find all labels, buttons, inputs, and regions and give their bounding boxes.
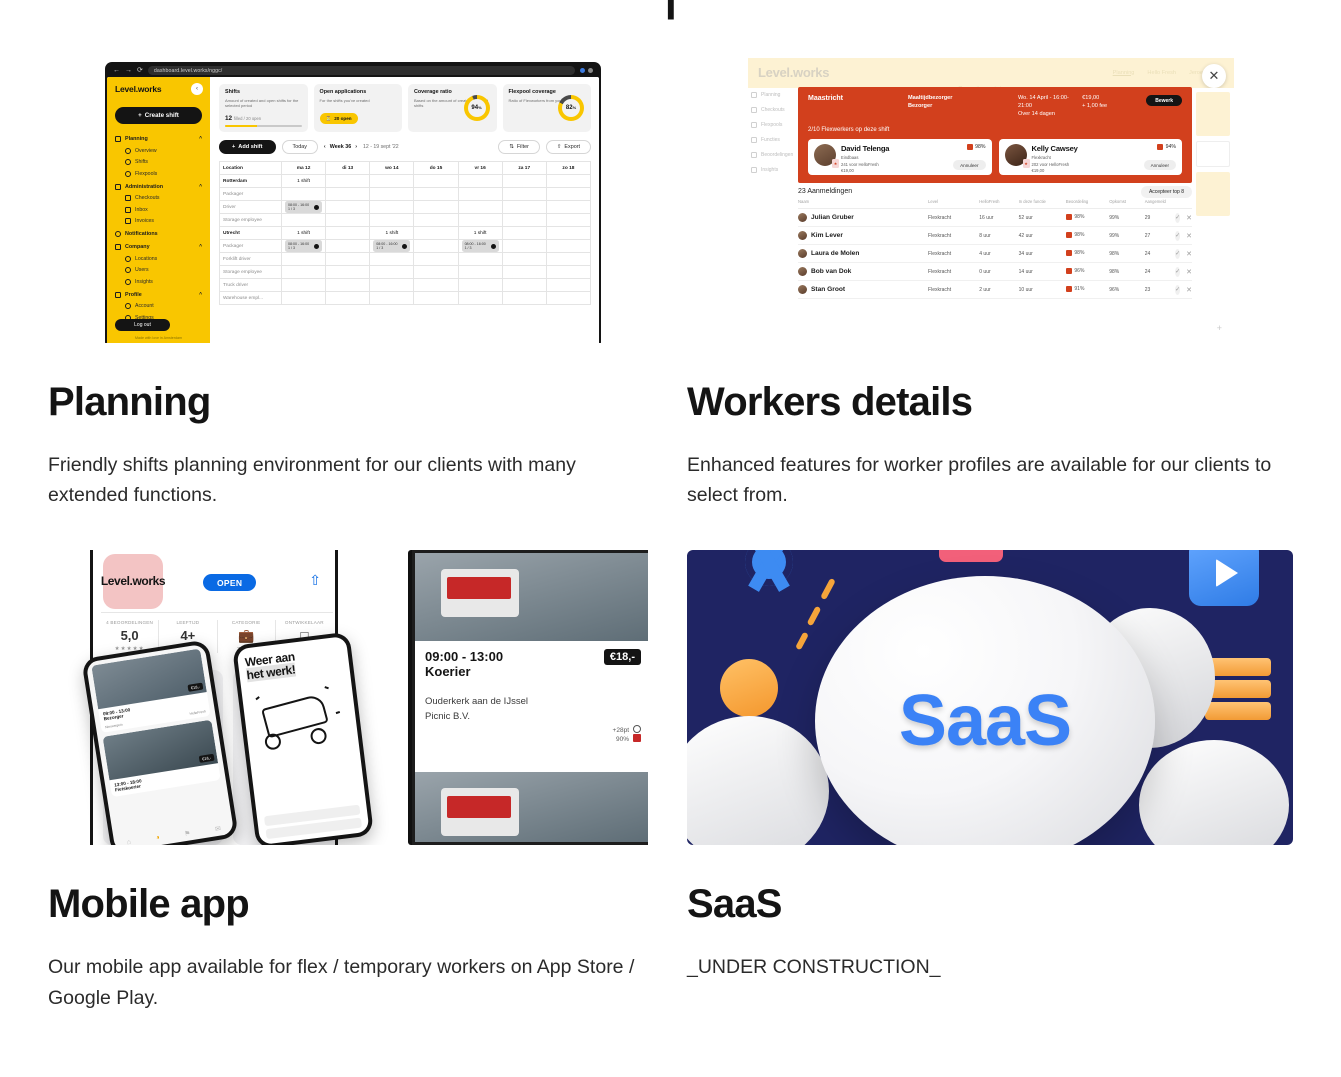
card-description-mobile-app: Our mobile app available for flex / temp… <box>48 952 648 1012</box>
shift-detail-panel: Maastricht Maaltijdbezorger Bezorger Wo.… <box>798 87 1192 183</box>
empty-cell <box>502 292 546 305</box>
applicant-hellofresh-hours: 2 uur <box>979 281 1018 299</box>
profile-dot-icon <box>580 68 585 73</box>
side-item-label: Functies <box>761 137 780 143</box>
applicant-rating: 98% <box>1066 209 1109 227</box>
empty-cell <box>458 201 502 214</box>
table-row: Warehouse empl... <box>220 292 591 305</box>
sidebar-item-overview[interactable]: Overview <box>115 148 202 154</box>
empty-cell <box>502 253 546 266</box>
app-icon: Level.works <box>103 554 163 609</box>
col-actions <box>1176 199 1192 209</box>
accept-icon[interactable]: ✓ <box>1175 231 1180 241</box>
nav-item-planning[interactable]: Planning <box>1113 70 1135 76</box>
sidebar-group-notifications[interactable]: Notifications <box>115 231 202 237</box>
applicant-level: Flexkracht <box>928 281 979 299</box>
sidebar-group-planning[interactable]: Planning ^ <box>115 136 202 142</box>
inbox-icon[interactable]: ✉ <box>214 825 221 834</box>
shift-chip[interactable]: 08:00 - 16:001 / 3 <box>285 240 322 252</box>
sidebar-group-label: Company <box>125 244 150 250</box>
empty-cell <box>282 253 326 266</box>
shift-datetime: Wo. 14 April - 16:00-21:00 Over 14 dagen <box>1018 95 1082 118</box>
empty-cell <box>326 188 370 201</box>
empty-cell <box>458 279 502 292</box>
forward-icon[interactable]: → <box>125 67 132 74</box>
row-actions[interactable]: ✓✕ <box>1176 245 1192 263</box>
donut-value: 82 <box>566 105 573 111</box>
side-item-label: Checkouts <box>761 107 785 113</box>
empty-cell <box>326 240 370 253</box>
flag-icon[interactable]: ⚑ <box>184 830 191 839</box>
applicant-applied-count: 27 <box>1145 227 1177 245</box>
applicant-name: Stan Groot <box>811 286 845 293</box>
export-button[interactable]: ⇧ Export <box>546 140 591 154</box>
shift-role-sub: Bezorger <box>908 103 1018 111</box>
open-button[interactable]: OPEN <box>203 574 256 591</box>
logout-button[interactable]: Log out <box>115 319 170 331</box>
sidebar-item-label: Insights <box>135 279 153 285</box>
empty-cell <box>326 266 370 279</box>
table-row[interactable]: Laura de MolenFlexkracht4 uur34 uur98%98… <box>798 245 1192 263</box>
empty-cell <box>414 266 458 279</box>
applicant-level: Flexkracht <box>928 245 979 263</box>
filter-label: Filter <box>517 144 529 150</box>
worker-rate: €19,00 <box>841 168 889 174</box>
checkouts-icon <box>125 195 131 201</box>
col-beoordeling: Beoordeling <box>1066 199 1109 209</box>
open-applications-badge[interactable]: ⏳ 20 open <box>320 113 358 124</box>
thumbs-up-icon <box>633 734 641 742</box>
sidebar-group-label: Planning <box>125 136 148 142</box>
overview-icon <box>125 148 131 154</box>
empty-cell <box>546 227 590 240</box>
sidebar-item-label: Account <box>135 303 154 309</box>
saas-word: SaaS <box>815 576 1155 845</box>
sidebar-item-inbox[interactable]: Inbox <box>115 207 202 213</box>
col-di-13: di 13 <box>326 162 370 175</box>
workers-logo: Level.works <box>758 65 829 80</box>
wheel-icon <box>310 727 328 745</box>
export-label: Export <box>564 144 580 150</box>
shift-company: HelloFresh <box>189 710 206 717</box>
shift-points: +28pt <box>613 727 629 734</box>
shift-info: 09:00 - 13:00 Koerier €18,- Ouderkerk aa… <box>415 641 648 734</box>
saas-screenshot: SaaS <box>687 550 1293 845</box>
empty-cell <box>370 279 414 292</box>
phone-onboarding: Weer aan het werk! <box>232 632 374 845</box>
menu-dot-icon <box>588 68 593 73</box>
side-item-label: Insights <box>761 167 778 173</box>
sidebar-item-label: Flexpools <box>135 171 157 177</box>
col-vr-16: vr 16 <box>458 162 502 175</box>
card-description-planning: Friendly shifts planning environment for… <box>48 450 648 510</box>
sidebar-item-invoices[interactable]: Invoices <box>115 218 202 224</box>
onboarding-headline: Weer aan het werk! <box>244 645 342 682</box>
bell-icon <box>115 231 121 237</box>
shift-card[interactable]: €16,- 13:00 - 18:00 Fietskoerier <box>103 720 221 797</box>
empty-cell <box>502 266 546 279</box>
shift-countdown: Over 14 dagen <box>1018 111 1082 119</box>
shift-count-cell[interactable]: 1 shift <box>370 227 414 240</box>
back-icon[interactable]: ← <box>113 67 120 74</box>
empty-cell <box>458 214 502 227</box>
accept-icon[interactable]: ✓ <box>1175 267 1180 277</box>
export-icon: ⇧ <box>557 144 562 150</box>
worker-name: David Telenga <box>841 144 889 153</box>
sidebar-item-insights[interactable]: Insights <box>115 279 202 285</box>
plus-icon: + <box>232 144 235 150</box>
shift-points-block: +28pt 90% <box>613 725 641 743</box>
insights-icon <box>125 279 131 285</box>
week-label: Week 36 <box>330 144 351 150</box>
chevron-up-icon: ^ <box>199 184 202 190</box>
shift-price: €18,- <box>187 683 203 692</box>
row-actions[interactable]: ✓✕ <box>1176 227 1192 245</box>
card-title-workers-details: Workers details <box>687 381 1293 423</box>
spec-key: 4 BEOORDELINGEN <box>103 620 156 625</box>
avatar <box>798 213 807 222</box>
stat-title: Coverage ratio <box>414 89 491 95</box>
locations-icon <box>125 256 131 262</box>
prev-week-icon[interactable]: ‹ <box>324 144 326 150</box>
applicant-name-cell: Stan Groot <box>798 281 928 299</box>
empty-cell <box>546 201 590 214</box>
applicant-function-hours: 10 uur <box>1019 281 1066 299</box>
shift-count-cell[interactable]: 1 shift <box>282 227 326 240</box>
app-icon-label: Level.works <box>101 576 165 587</box>
add-icon[interactable]: + <box>1217 323 1222 333</box>
flag-icon <box>751 122 757 128</box>
avatar: ★ <box>1005 144 1027 166</box>
insights-icon <box>751 167 757 173</box>
empty-cell <box>502 240 546 253</box>
avatar <box>798 285 807 294</box>
side-item-functies[interactable]: Functies <box>751 137 801 143</box>
empty-cell <box>414 240 458 253</box>
table-row[interactable]: Kim LeverFlexkracht8 uur42 uur98%99%27✓✕ <box>798 227 1192 245</box>
donut-unit: % <box>573 105 577 110</box>
shift-location: Maastricht <box>808 95 908 118</box>
reject-icon[interactable]: ✕ <box>1186 268 1192 276</box>
empty-cell <box>370 214 414 227</box>
shift-chip[interactable]: 08:00 - 16:001 / 3 <box>373 240 410 252</box>
shift-rate: €19,00 + 1,00 fee <box>1082 95 1146 118</box>
stat-title: Shifts <box>225 89 302 95</box>
shift-count-cell[interactable]: 1 shift <box>458 227 502 240</box>
next-week-icon[interactable]: › <box>355 144 357 150</box>
role-cell: Forklift driver <box>220 253 282 266</box>
reject-icon[interactable]: ✕ <box>1186 214 1192 222</box>
sidebar-item-shifts[interactable]: Shifts <box>115 159 202 165</box>
worker-card[interactable]: ★ Kelly Cawsey Flexkracht 202 voor Hello… <box>999 139 1183 175</box>
share-icon[interactable]: ⇧ <box>309 572 321 589</box>
accept-top-button[interactable]: Accepteer top 8 <box>1141 186 1192 198</box>
applicant-level: Flexkracht <box>928 227 979 245</box>
applicant-rating: 91% <box>1066 281 1109 299</box>
applicant-function-hours: 14 uur <box>1019 263 1066 281</box>
badge-icon: ★ <box>1023 159 1030 168</box>
role-cell: Driver <box>220 201 282 214</box>
shift-chip[interactable]: 08:00 - 16:001 / 3 <box>462 240 499 252</box>
sidebar-group-company[interactable]: Company ^ <box>115 244 202 250</box>
empty-cell <box>326 201 370 214</box>
feature-card-workers-details: Level.works Planning Hello Fresh Jeroen … <box>687 48 1293 510</box>
empty-cell <box>370 292 414 305</box>
table-row: Storage employee <box>220 266 591 279</box>
col-zo-18: zo 18 <box>546 162 590 175</box>
chevron-up-icon: ^ <box>199 244 202 250</box>
accept-icon[interactable]: ✓ <box>1175 249 1180 259</box>
applicant-function-hours: 34 uur <box>1019 245 1066 263</box>
applications-section: 23 Aanmeldingen Accepteer top 8 Naam Lev… <box>798 188 1192 343</box>
empty-cell <box>414 214 458 227</box>
table-row[interactable]: Stan GrootFlexkracht2 uur10 uur91%96%23✓… <box>798 281 1192 299</box>
sidebar-item-label: Checkouts <box>135 195 160 201</box>
browser-window: ← → ⟳ dashboard.level.works/nggc/ Level.… <box>105 62 601 343</box>
sidebar-item-flexpools[interactable]: Flexpools <box>115 171 202 177</box>
sidebar-item-locations[interactable]: Locations <box>115 256 202 262</box>
avatar <box>798 267 807 276</box>
date-range-label: 12 - 19 sept '22 <box>363 144 399 150</box>
shift-chip-cell[interactable]: 08:00 - 16:001 / 3 <box>370 240 414 253</box>
reject-icon[interactable]: ✕ <box>1186 232 1192 240</box>
stat-card-coverage-ratio: Coverage ratio Based on the amount of cr… <box>408 84 497 132</box>
dashboard-body: Level.works ‹ + Create shift Planning <box>107 77 599 343</box>
reject-icon[interactable]: ✕ <box>1186 250 1192 258</box>
circle-icon <box>633 725 641 733</box>
empty-cell <box>546 292 590 305</box>
rail-slot <box>1196 92 1230 136</box>
browser-window-controls <box>580 68 593 73</box>
row-actions[interactable]: ✓✕ <box>1176 209 1192 227</box>
sidebar-group-profile[interactable]: Profile ^ <box>115 292 202 298</box>
planning-table: Location ma 12 di 13 wo 14 do 15 vr 16 z… <box>219 161 591 305</box>
sidebar-item-label: Users <box>135 267 149 273</box>
side-item-beoordelingen[interactable]: Beoordelingen <box>751 152 801 158</box>
shift-chip-cell[interactable]: 08:00 - 16:001 / 3 <box>282 201 326 214</box>
shift-card[interactable]: €18,- 09:00 - 13:00 Bezorger Nieuwegein … <box>91 649 210 733</box>
calendar-icon <box>115 136 121 142</box>
create-shift-button[interactable]: + Create shift <box>115 107 202 124</box>
filter-icon: ⇅ <box>509 144 514 150</box>
workers-body: Planning Checkouts Flexpools Functies Be… <box>748 88 1234 343</box>
applicant-applied-count: 24 <box>1145 245 1177 263</box>
table-row[interactable]: Julian GruberFlexkracht16 uur52 uur98%99… <box>798 209 1192 227</box>
sidebar-footer: Made with love in Amsterdam <box>107 336 210 340</box>
empty-cell <box>546 266 590 279</box>
role-cell: Packager <box>220 240 282 253</box>
shift-price: €16,- <box>199 754 215 763</box>
workers-side-menu: Planning Checkouts Flexpools Functies Be… <box>751 92 801 182</box>
empty-cell <box>370 175 414 188</box>
applicant-hellofresh-hours: 16 uur <box>979 209 1018 227</box>
browser-toolbar: ← → ⟳ dashboard.level.works/nggc/ <box>107 64 599 77</box>
worker-score: 98% <box>967 144 986 150</box>
shifts-icon[interactable]: ◑ <box>155 835 160 844</box>
thumbs-up-icon <box>1066 286 1072 292</box>
worker-rate: €19,00 <box>1032 168 1078 174</box>
applicant-level: Flexkracht <box>928 209 979 227</box>
calendar-rail <box>1196 92 1230 343</box>
shift-count-cell[interactable]: 1 shift <box>282 175 326 188</box>
reload-icon[interactable]: ⟳ <box>137 67 143 74</box>
side-item-checkouts[interactable]: Checkouts <box>751 107 801 113</box>
sidebar-item-checkouts[interactable]: Checkouts <box>115 195 202 201</box>
applicant-function-hours: 42 uur <box>1019 227 1066 245</box>
stat-card-open-applications: Open applications For the shifts you've … <box>314 84 403 132</box>
empty-cell <box>370 253 414 266</box>
sidebar-item-users[interactable]: Users <box>115 267 202 273</box>
applicant-name: Kim Lever <box>811 232 843 239</box>
row-actions[interactable]: ✓✕ <box>1176 263 1192 281</box>
coverage-ratio-donut: 94% <box>464 95 490 121</box>
sidebar-item-label: Overview <box>135 148 157 154</box>
thumbs-up-icon <box>1066 268 1072 274</box>
empty-cell <box>370 188 414 201</box>
row-actions[interactable]: ✓✕ <box>1176 281 1192 299</box>
empty-cell <box>502 175 546 188</box>
table-body: Rotterdam1 shiftPackagerDriver08:00 - 16… <box>220 175 591 305</box>
clipped-section-heading: | <box>0 0 1341 20</box>
plus-icon: + <box>138 112 142 119</box>
reject-icon[interactable]: ✕ <box>1186 286 1192 294</box>
shift-chip[interactable]: 08:00 - 16:001 / 3 <box>285 201 322 213</box>
sidebar-item-account[interactable]: Account <box>115 303 202 309</box>
side-item-flexpools[interactable]: Flexpools <box>751 122 801 128</box>
worker-card[interactable]: ★ David Telenga Eindbaas 241 voor HelloF… <box>808 139 992 175</box>
role-cell: Storage employee <box>220 266 282 279</box>
side-item-label: Beoordelingen <box>761 152 793 158</box>
add-shift-button[interactable]: + Add shift <box>219 140 276 154</box>
donut-unit: % <box>478 105 482 110</box>
empty-cell <box>546 175 590 188</box>
empty-cell <box>370 266 414 279</box>
accept-icon[interactable]: ✓ <box>1175 285 1180 295</box>
applicant-applied-count: 24 <box>1145 263 1177 281</box>
features-grid: ← → ⟳ dashboard.level.works/nggc/ Level.… <box>48 48 1293 1013</box>
applicant-applied-count: 23 <box>1145 281 1177 299</box>
star-icon <box>751 152 757 158</box>
empty-cell <box>370 201 414 214</box>
applications-title: 23 Aanmeldingen <box>798 188 1192 195</box>
applicant-name-cell: Bob van Dok <box>798 263 928 281</box>
empty-cell <box>282 188 326 201</box>
shift-datetime-label: Wo. 14 April - 16:00-21:00 <box>1018 95 1082 111</box>
applicant-rating: 96% <box>1066 263 1109 281</box>
empty-cell <box>326 175 370 188</box>
role-cell: Warehouse empl... <box>220 292 282 305</box>
table-row: Packager <box>220 188 591 201</box>
sidebar-item-label: Invoices <box>135 218 154 224</box>
edit-shift-button[interactable]: Bewerk <box>1146 95 1182 106</box>
worker-name: Kelly Cawsey <box>1032 144 1078 153</box>
shift-chip-cell[interactable]: 08:00 - 16:001 / 3 <box>282 240 326 253</box>
stat-desc: Amount of created and open shifts for th… <box>225 98 302 109</box>
col-za-17: za 17 <box>502 162 546 175</box>
applicant-hellofresh-hours: 0 uur <box>979 263 1018 281</box>
empty-cell <box>546 279 590 292</box>
stat-title: Open applications <box>320 89 397 95</box>
shift-location: Nieuwegein <box>105 723 123 730</box>
wheel-icon <box>264 733 282 751</box>
table-row: Driver08:00 - 16:001 / 3 <box>220 201 591 214</box>
stat-desc: For the shifts you've created <box>320 98 397 103</box>
cancel-worker-button[interactable]: Annuleer <box>1144 160 1176 170</box>
workers-header: Level.works Planning Hello Fresh Jeroen … <box>748 58 1234 80</box>
flexpools-icon <box>125 171 131 177</box>
table-header-row: Location ma 12 di 13 wo 14 do 15 vr 16 z… <box>220 162 591 175</box>
address-bar[interactable]: dashboard.level.works/nggc/ <box>148 66 575 75</box>
shift-role-title: Maaltijdbezorger <box>908 95 1018 103</box>
progress-bar <box>225 125 302 127</box>
shift-rate-sub: + 1,00 fee <box>1082 103 1146 111</box>
saas-illustration: SaaS <box>687 550 1293 845</box>
side-item-insights[interactable]: Insights <box>751 167 801 173</box>
avatar: ★ <box>814 144 836 166</box>
cancel-worker-button[interactable]: Annuleer <box>953 160 985 170</box>
worker-score-value: 94% <box>1166 144 1176 150</box>
side-item-planning[interactable]: Planning <box>751 92 801 98</box>
phone-screen: 09:00 - 13:00 Koerier €18,- Ouderkerk aa… <box>415 553 648 842</box>
today-button[interactable]: Today <box>282 140 318 154</box>
worker-meta: Flexkracht 202 voor HelloFresh €19,00 <box>1032 155 1078 174</box>
stat-title: Flexpool coverage <box>509 89 586 95</box>
applications-header-row: Naam Level HelloFresh In deze functie Be… <box>798 199 1192 209</box>
empty-cell <box>502 227 546 240</box>
applicant-name-cell: Julian Gruber <box>798 209 928 227</box>
dashboard-main: Shifts Amount of created and open shifts… <box>210 77 599 343</box>
table-row: Rotterdam1 shift <box>220 175 591 188</box>
table-row[interactable]: Bob van DokFlexkracht0 uur14 uur96%98%24… <box>798 263 1192 281</box>
empty-cell <box>546 253 590 266</box>
applicant-name: Bob van Dok <box>811 268 851 275</box>
rail-slot <box>1196 141 1230 167</box>
sidebar-group-administration[interactable]: Administration ^ <box>115 184 202 190</box>
applicant-name-cell: Kim Lever <box>798 227 928 245</box>
planning-toolbar: + Add shift Today ‹ Week 36 › 12 - 19 se… <box>219 140 591 154</box>
shift-match: 90% <box>616 736 629 743</box>
empty-cell <box>326 214 370 227</box>
applicant-name: Laura de Molen <box>811 250 859 257</box>
spec-key: LEEFTIJD <box>161 620 214 625</box>
collapse-icon[interactable]: ‹ <box>191 83 203 95</box>
sidebar-group-label: Notifications <box>125 231 158 237</box>
shift-chip-cell[interactable]: 08:00 - 16:001 / 3 <box>458 240 502 253</box>
col-aangemeld: Aangemeld <box>1145 199 1177 209</box>
col-do-15: do 15 <box>414 162 458 175</box>
week-selector[interactable]: ‹ Week 36 › <box>324 144 357 150</box>
dashboard-sidebar: Level.works ‹ + Create shift Planning <box>107 77 210 343</box>
home-icon[interactable]: ⌂ <box>126 839 131 845</box>
clock-icon <box>751 107 757 113</box>
applicant-hellofresh-hours: 8 uur <box>979 227 1018 245</box>
gear-icon <box>745 550 793 586</box>
empty-cell <box>282 292 326 305</box>
chevron-up-icon: ^ <box>199 292 202 298</box>
close-icon[interactable]: ✕ <box>1202 64 1226 88</box>
company-icon <box>115 244 121 250</box>
truck-icon <box>441 788 519 836</box>
nav-item-hello-fresh[interactable]: Hello Fresh <box>1147 70 1176 76</box>
applicant-level: Flexkracht <box>928 263 979 281</box>
stats-row: Shifts Amount of created and open shifts… <box>219 84 591 132</box>
accept-icon[interactable]: ✓ <box>1175 213 1180 223</box>
badge-icon: ★ <box>832 159 839 168</box>
thumbs-up-icon <box>1066 232 1072 238</box>
profile-icon <box>115 292 121 298</box>
sidebar-group-label: Profile <box>125 292 142 298</box>
filter-button[interactable]: ⇅ Filter <box>498 140 540 154</box>
